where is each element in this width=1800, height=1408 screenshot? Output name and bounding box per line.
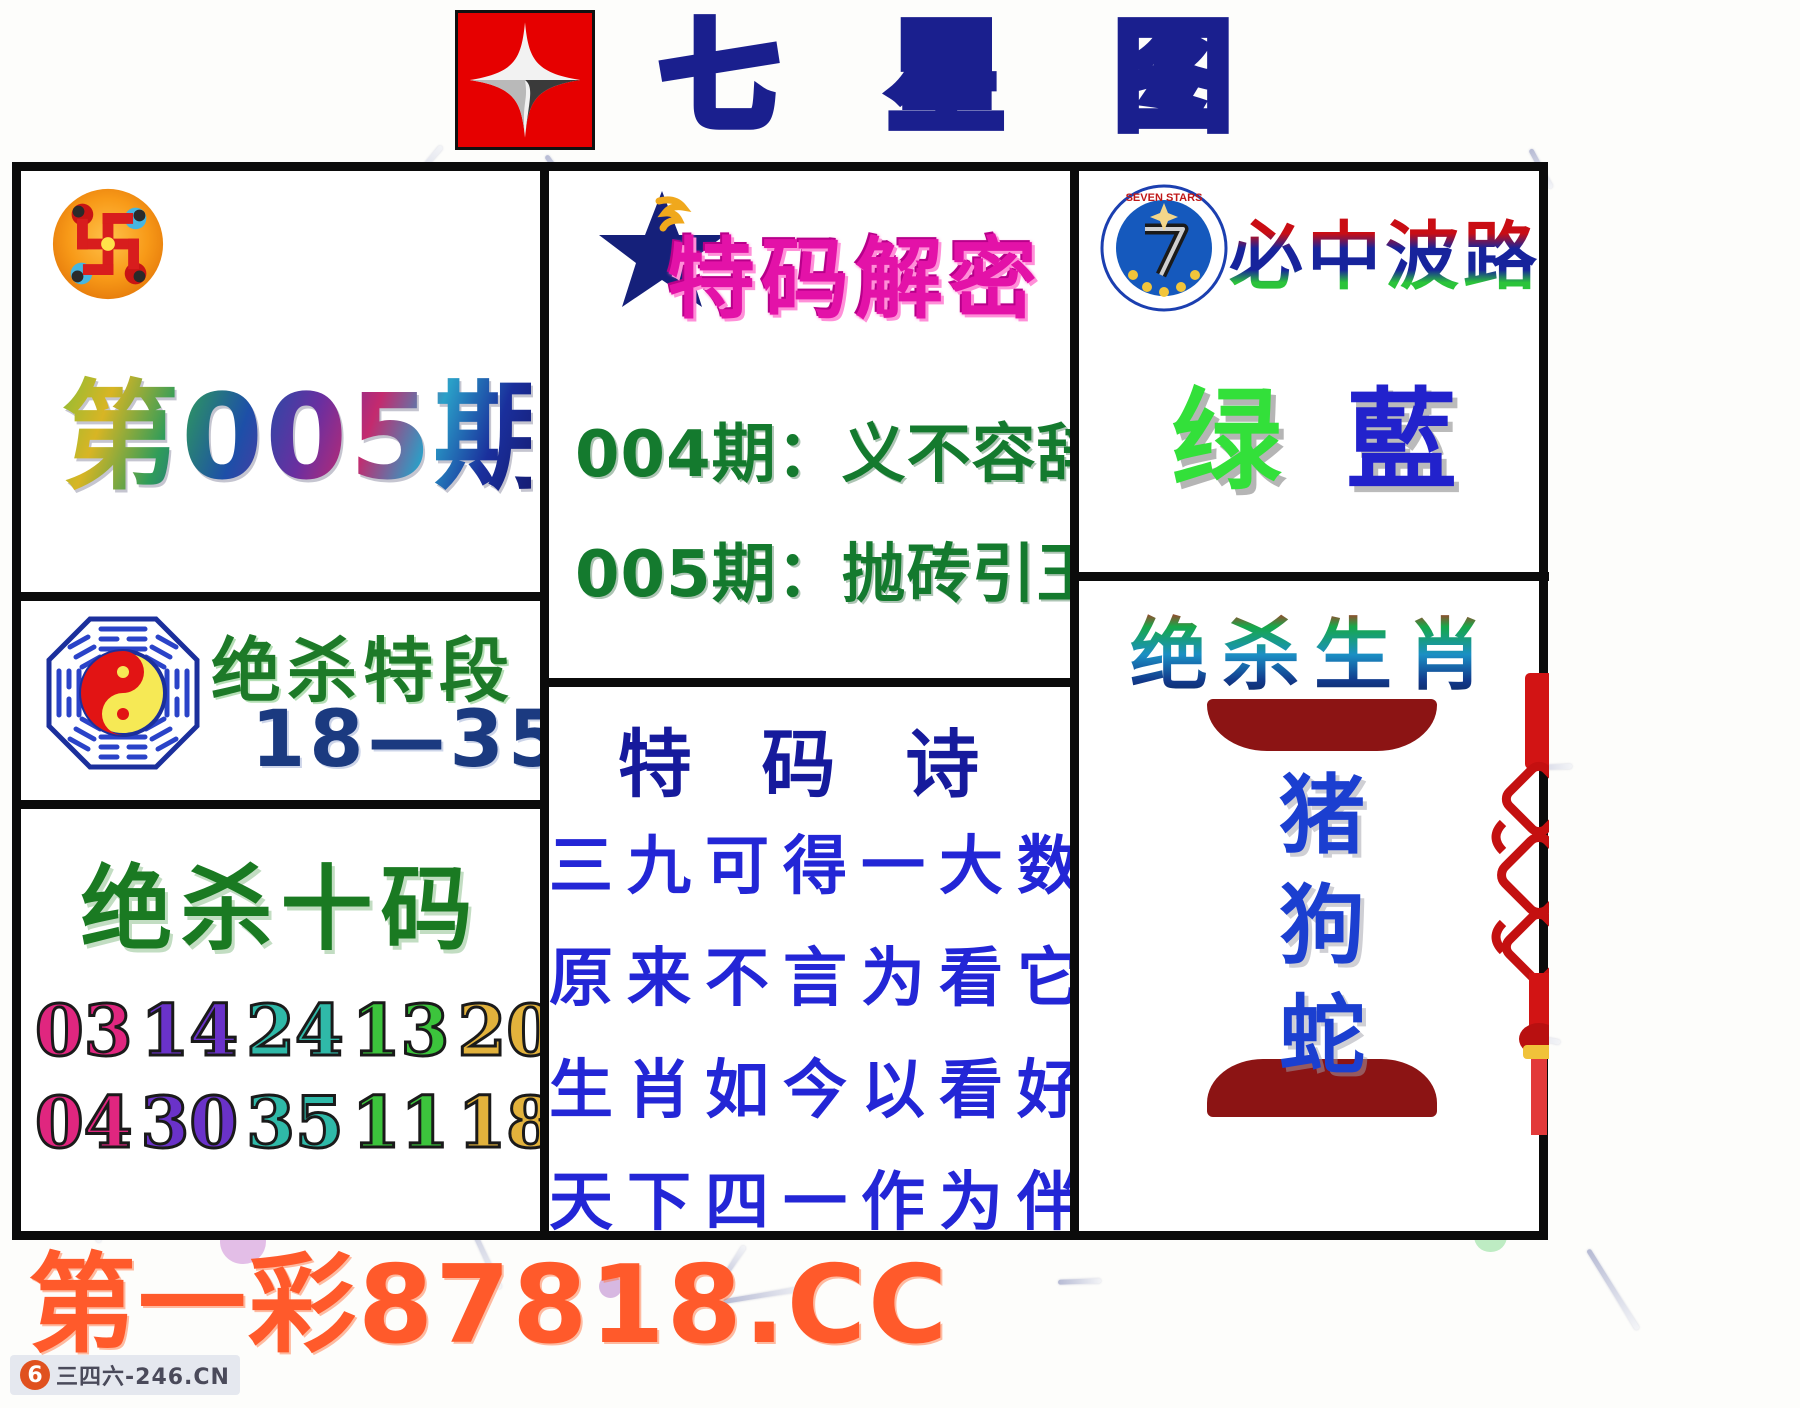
poem-title: 特 码 诗 (549, 705, 1070, 812)
poem-line: 三九可得一大数 (549, 815, 1070, 907)
kill-ten-number: 13 (352, 989, 449, 1072)
zodiac-list: 猪 狗 蛇 (1207, 761, 1437, 1091)
poem-line: 生肖如今以看好 (549, 1039, 1070, 1131)
kill-ten-title: 绝杀十码 (21, 835, 540, 968)
kill-ten-number: 20 (458, 989, 540, 1072)
decode-title: 特码解密 (667, 209, 1070, 336)
divider-left-b (12, 800, 549, 809)
poster-root: 七 星 图 (0, 0, 1800, 1408)
zodiac-animal: 猪 (1207, 761, 1437, 871)
wave-title: 必中波路 (1229, 197, 1549, 304)
constellation-stick (1586, 1248, 1640, 1330)
period-panel: 第005期 (21, 171, 540, 592)
kill-segment-panel: 绝杀特段 18—35 (21, 601, 540, 800)
scroll-top-bar (1207, 699, 1437, 751)
wave-panel: SEVEN STARS 必中波路 绿 藍 (1079, 171, 1549, 572)
wave-colors: 绿 藍 (1079, 351, 1549, 511)
chinese-knot-icon (1479, 673, 1549, 1143)
seven-stars-badge-icon: SEVEN STARS (1099, 183, 1229, 313)
swastika-emblem-icon (49, 185, 167, 303)
kill-ten-number: 24 (246, 989, 343, 1072)
red-star-burst-icon (455, 10, 595, 150)
zodiac-panel: 绝杀生肖 猪 狗 蛇 (1079, 581, 1549, 1231)
wave-color-green: 绿 (1171, 351, 1281, 511)
yin-yang-bagua-icon (43, 613, 203, 773)
zodiac-animal: 蛇 (1207, 981, 1437, 1091)
kill-segment-range: 18—35 (251, 695, 540, 785)
spark-glyph (465, 20, 585, 140)
divider-vertical-right (1070, 162, 1079, 1240)
source-watermark: 6 三四六-246.CN (10, 1355, 240, 1395)
poem-line: 原来不言为看它 (549, 927, 1070, 1019)
kill-ten-row-2: 04 30 35 11 18 (35, 1081, 540, 1164)
divider-vertical-left (540, 162, 549, 1240)
wave-color-blue: 藍 (1347, 351, 1457, 511)
source-badge-icon: 6 (20, 1360, 50, 1390)
decode-row-004: 004期：义不容辞 (575, 403, 1070, 495)
kill-ten-number: 18 (458, 1081, 540, 1164)
decode-row-005: 005期：抛砖引玉 (575, 523, 1070, 615)
period-label: 第005期 (61, 341, 531, 512)
poem-panel: 特 码 诗 三九可得一大数 原来不言为看它 生肖如今以看好 天下四一作为伴 (549, 687, 1070, 1231)
divider-center (540, 678, 1079, 687)
zodiac-animal: 狗 (1207, 871, 1437, 981)
kill-ten-number: 30 (141, 1081, 238, 1164)
constellation-stick (1058, 1278, 1101, 1284)
source-watermark-text: 三四六-246.CN (56, 1359, 230, 1391)
kill-ten-row-1: 03 14 24 13 20 (35, 989, 540, 1072)
kill-ten-number: 14 (141, 989, 238, 1072)
kill-ten-number: 04 (35, 1081, 132, 1164)
kill-ten-number: 11 (352, 1081, 449, 1164)
divider-left-a (12, 592, 549, 601)
kill-ten-number: 03 (35, 989, 132, 1072)
page-title: 七 星 图 (660, 2, 1380, 152)
svg-text:SEVEN STARS: SEVEN STARS (1126, 192, 1203, 204)
site-watermark: 第一彩87818.CC (28, 1218, 949, 1374)
kill-ten-panel: 绝杀十码 03 14 24 13 20 04 30 35 11 18 (21, 809, 540, 1231)
kill-ten-number: 35 (246, 1081, 343, 1164)
decode-panel: 特码解密 004期：义不容辞 005期：抛砖引玉 (549, 171, 1070, 678)
poster-header: 七 星 图 (0, 0, 1800, 160)
divider-right (1070, 572, 1549, 581)
